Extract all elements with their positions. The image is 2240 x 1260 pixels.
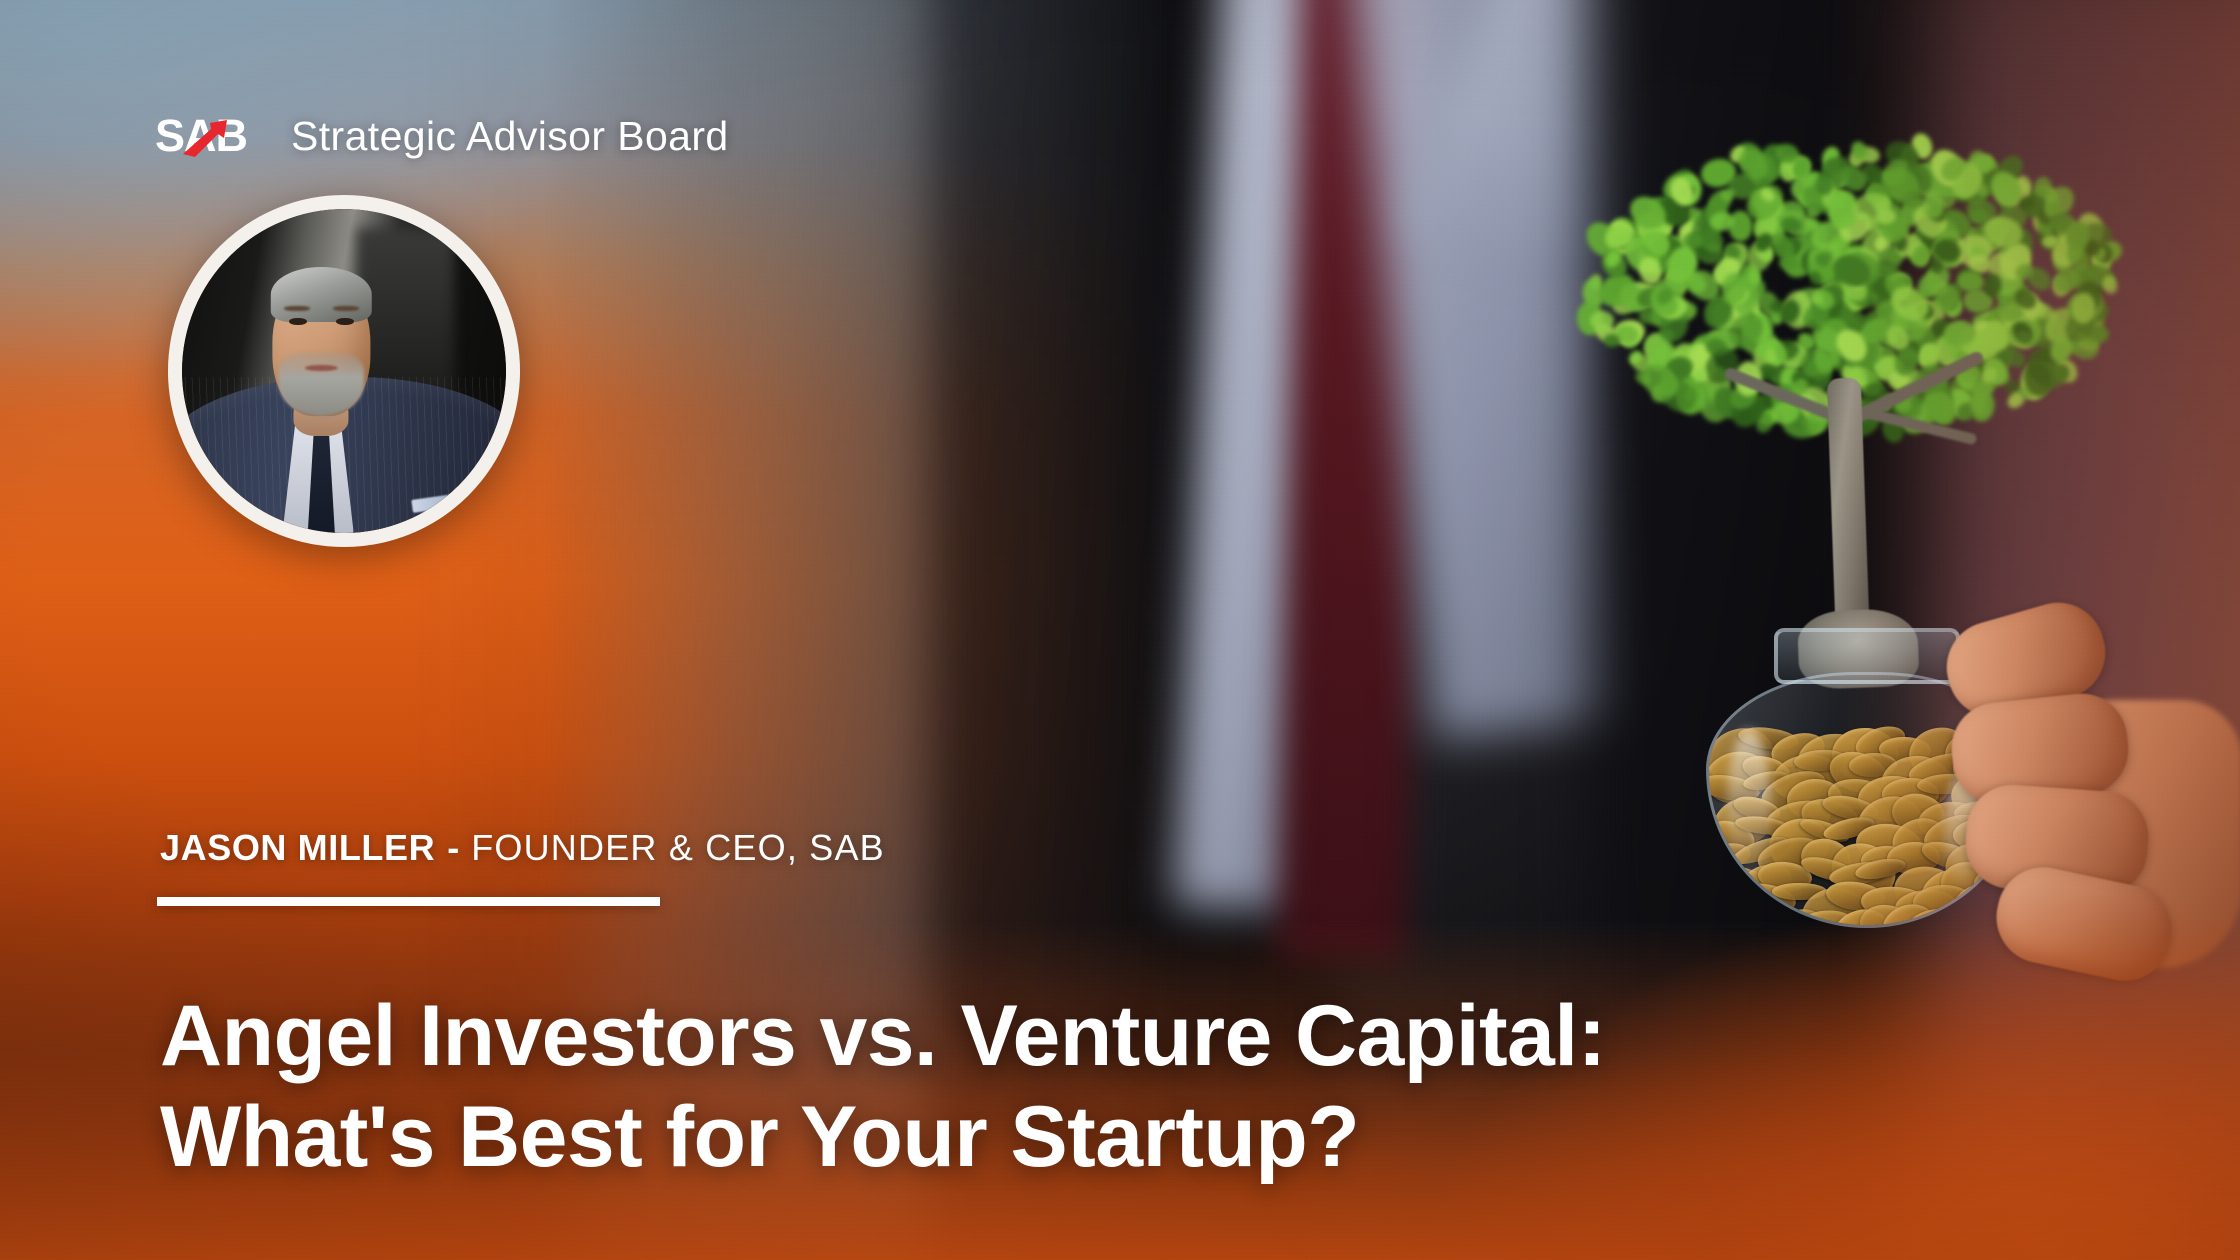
promo-banner: SAB Strategic Advisor Board xyxy=(0,0,2240,1260)
brand-logo-text: Strategic Advisor Board xyxy=(291,116,729,157)
avatar-eyebrow xyxy=(333,306,359,311)
avatar-hair xyxy=(271,267,371,322)
byline-separator: - xyxy=(447,827,459,868)
content-layer: SAB Strategic Advisor Board xyxy=(0,0,2240,1260)
brand-logo[interactable]: SAB Strategic Advisor Board xyxy=(155,110,729,162)
page-title: Angel Investors vs. Venture Capital: Wha… xyxy=(160,986,2030,1189)
byline-divider xyxy=(157,897,660,906)
headline-line-2: What's Best for Your Startup? xyxy=(160,1087,2030,1188)
avatar-eye xyxy=(336,318,354,326)
avatar xyxy=(168,195,520,547)
headline-line-1: Angel Investors vs. Venture Capital: xyxy=(160,986,2030,1087)
byline-role: FOUNDER & CEO, SAB xyxy=(471,827,885,868)
sab-logomark: SAB xyxy=(155,110,263,162)
svg-text:SAB: SAB xyxy=(155,110,247,161)
avatar-image xyxy=(182,209,506,533)
avatar-eye xyxy=(289,318,307,326)
byline-name: JASON MILLER xyxy=(160,827,435,868)
avatar-beard xyxy=(279,352,363,417)
byline: JASON MILLER-FOUNDER & CEO, SAB xyxy=(160,830,885,866)
